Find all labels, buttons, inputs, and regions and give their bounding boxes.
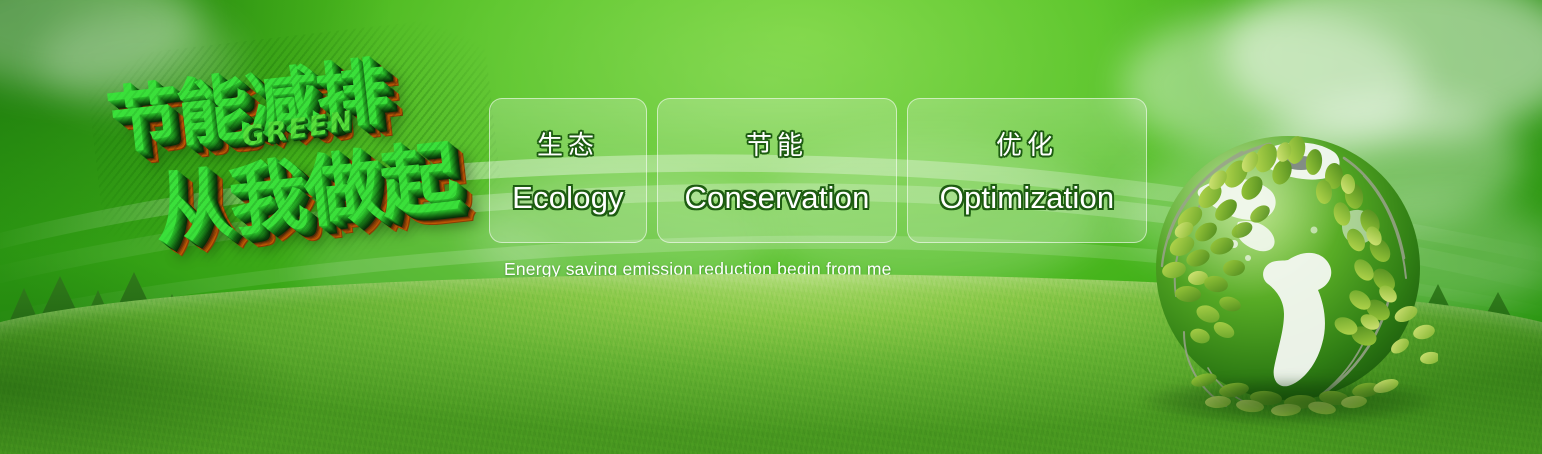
feature-card-en-label: Ecology — [512, 180, 624, 216]
feature-card-en-label: Conservation — [684, 180, 869, 216]
globe-shadow — [1144, 378, 1436, 424]
feature-card-cn-label: 生态 — [537, 125, 599, 162]
feature-card-cn-label: 节能 — [746, 125, 808, 162]
eco-hero-banner: 节能减排 GREEN 从我做起 生态 Ecology 节能 Conservati… — [0, 0, 1542, 454]
feature-card-ecology[interactable]: 生态 Ecology — [489, 98, 647, 243]
feature-card-optimization[interactable]: 优化 Optimization — [907, 98, 1147, 243]
hero-3d-title: 节能减排 GREEN 从我做起 — [84, 14, 507, 288]
feature-card-group: 生态 Ecology 节能 Conservation 优化 Optimizati… — [489, 98, 1147, 243]
feature-card-conservation[interactable]: 节能 Conservation — [657, 98, 897, 243]
feature-card-en-label: Optimization — [940, 180, 1115, 216]
globe-earth-leaves-icon — [1138, 118, 1438, 418]
feature-card-cn-label: 优化 — [996, 125, 1058, 162]
